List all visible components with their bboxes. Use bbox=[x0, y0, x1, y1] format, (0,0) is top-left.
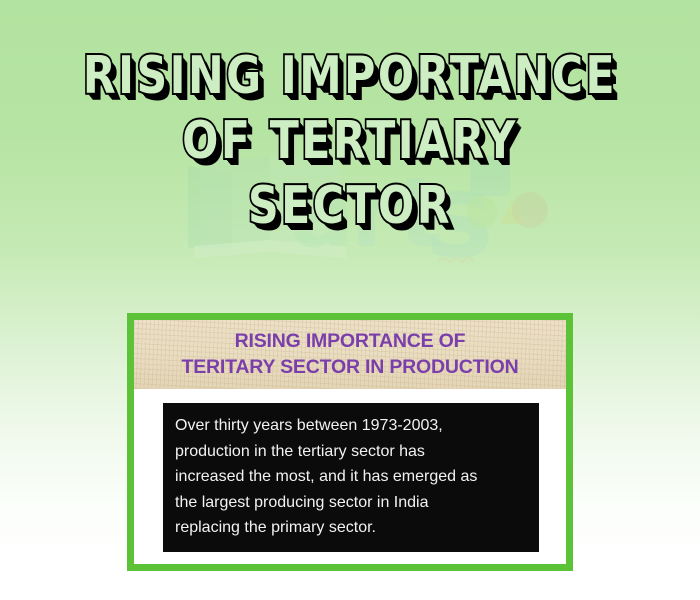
card-heading-line-1: RISING IMPORTANCE OF bbox=[138, 328, 562, 354]
card-body-text-box: Over thirty years between 1973-2003, pro… bbox=[163, 403, 539, 552]
page-title-line-3: SECTOR bbox=[63, 174, 637, 239]
card-body-line-3: increased the most, and it has emerged a… bbox=[175, 464, 527, 490]
card-heading: RISING IMPORTANCE OF TERITARY SECTOR IN … bbox=[134, 320, 566, 389]
card-heading-line-2: TERITARY SECTOR IN PRODUCTION bbox=[138, 354, 562, 380]
card-body-line-4: the largest producing sector in India bbox=[175, 490, 527, 516]
content-card: RISING IMPORTANCE OF TERITARY SECTOR IN … bbox=[127, 313, 573, 571]
page-title: RISING IMPORTANCE OF TERTIARY SECTOR bbox=[0, 44, 700, 239]
card-inner: RISING IMPORTANCE OF TERITARY SECTOR IN … bbox=[134, 320, 566, 564]
card-body-line-5: replacing the primary sector. bbox=[175, 515, 527, 541]
card-body-wrapper: Over thirty years between 1973-2003, pro… bbox=[134, 389, 566, 564]
card-body-line-1: Over thirty years between 1973-2003, bbox=[175, 413, 527, 439]
slide-canvas: a rt s TM RISING IMPORTANCE OF TERTIARY … bbox=[0, 0, 700, 600]
page-title-line-1: RISING IMPORTANCE bbox=[63, 44, 637, 109]
watermark-underline bbox=[438, 258, 474, 262]
card-body-line-2: production in the tertiary sector has bbox=[175, 439, 527, 465]
page-title-line-2: OF TERTIARY bbox=[63, 109, 637, 174]
